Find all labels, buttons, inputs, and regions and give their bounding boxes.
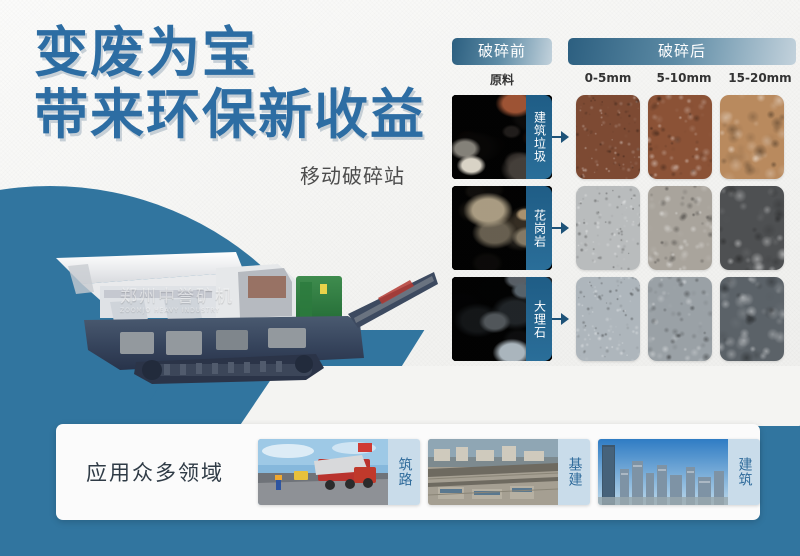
comparison-header-row: 破碎前 破碎后 — [452, 38, 796, 65]
header-after-crushing: 破碎后 — [568, 38, 796, 65]
material-row: 花岗岩 — [452, 186, 796, 270]
promo-banner: 变废为宝 带来环保新收益 移动破碎站 — [0, 0, 800, 556]
application-item-infrastructure[interactable]: 基建 — [428, 439, 590, 505]
process-arrow-icon — [552, 186, 568, 270]
headline-line-1: 变废为宝 — [34, 22, 454, 84]
application-item-city[interactable]: 建筑 — [598, 439, 760, 505]
aggregate-sample-5-10mm — [648, 186, 712, 270]
material-name-tag: 建筑垃圾 — [526, 95, 552, 179]
subheader-raw-material: 原料 — [452, 71, 552, 88]
application-item-road[interactable]: 筑路 — [258, 439, 420, 505]
applications-card: 应用众多领域 筑路 — [56, 424, 760, 520]
product-subtitle: 移动破碎站 — [300, 160, 405, 189]
material-name-tag: 花岗岩 — [526, 186, 552, 270]
process-arrow-icon — [552, 95, 568, 179]
raw-material-photo-2: 大理石 — [452, 277, 552, 361]
application-label: 基建 — [558, 439, 590, 505]
application-label: 建筑 — [728, 439, 760, 505]
material-rows: 建筑垃圾花岗岩大理石 — [452, 95, 796, 361]
size-label-15-20mm: 15-20mm — [724, 71, 796, 88]
aggregate-sample-0-5mm — [576, 277, 640, 361]
application-photo — [598, 439, 728, 505]
application-photo — [428, 439, 558, 505]
aggregate-sample-5-10mm — [648, 95, 712, 179]
crush-comparison-panel: 破碎前 破碎后 原料 0-5mm 5-10mm 15-20mm 建筑垃圾花岗岩大… — [452, 38, 796, 361]
material-name-tag: 大理石 — [526, 277, 552, 361]
comparison-subheader-row: 原料 0-5mm 5-10mm 15-20mm — [452, 71, 796, 88]
aggregate-sample-0-5mm — [576, 186, 640, 270]
raw-material-photo-1: 花岗岩 — [452, 186, 552, 270]
application-items: 筑路 基建 — [250, 439, 760, 505]
headline-block: 变废为宝 带来环保新收益 — [34, 22, 454, 146]
mobile-crusher-illustration — [48, 228, 438, 388]
aggregate-sample-15-20mm — [720, 95, 784, 179]
size-label-5-10mm: 5-10mm — [648, 71, 720, 88]
material-row: 大理石 — [452, 277, 796, 361]
material-row: 建筑垃圾 — [452, 95, 796, 179]
process-arrow-icon — [552, 277, 568, 361]
application-label: 筑路 — [388, 439, 420, 505]
aggregate-sample-15-20mm — [720, 277, 784, 361]
raw-material-photo-0: 建筑垃圾 — [452, 95, 552, 179]
aggregate-sample-5-10mm — [648, 277, 712, 361]
size-label-group: 0-5mm 5-10mm 15-20mm — [568, 71, 796, 88]
header-before-crushing: 破碎前 — [452, 38, 552, 65]
application-photo — [258, 439, 388, 505]
aggregate-sample-15-20mm — [720, 186, 784, 270]
size-label-0-5mm: 0-5mm — [572, 71, 644, 88]
headline-line-2: 带来环保新收益 — [34, 84, 454, 146]
aggregate-sample-0-5mm — [576, 95, 640, 179]
applications-title: 应用众多领域 — [86, 457, 250, 487]
